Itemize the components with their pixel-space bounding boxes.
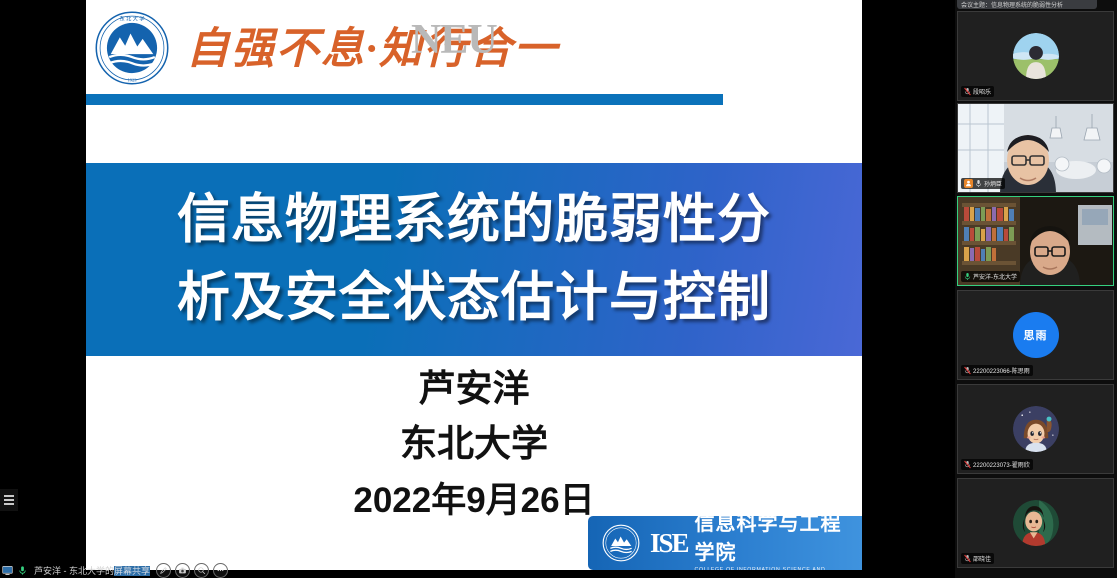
ellipsis-icon [216, 566, 225, 575]
participant-tile[interactable]: 芦安洋-东北大学 [957, 196, 1114, 286]
participant-name: 段昭乐 [973, 87, 991, 96]
participant-name-strip: 段昭乐 [961, 86, 994, 97]
slide-header: 东 北 大 学 1923 自强不息·知行合一 NEU [86, 0, 862, 92]
header-divider [86, 94, 723, 105]
slide-title-line-2: 析及安全状态估计与控制 [86, 259, 862, 337]
toggle-line [4, 495, 14, 497]
toggle-line [4, 499, 14, 501]
mic-muted-icon [964, 554, 971, 563]
college-footer-banner: ISE 信息科学与工程学院 COLLEGE OF INFORMATION SCI… [588, 516, 862, 570]
magnifier-icon [197, 566, 206, 575]
avatar [1013, 33, 1059, 79]
microphone-icon[interactable] [17, 565, 28, 576]
person-icon [965, 180, 972, 187]
participant-name-strip: 孙炳臣 [961, 178, 1005, 189]
meeting-topic-header: 会议主题：信息物理系统的脆弱性分析 [957, 0, 1097, 9]
participant-tile[interactable]: 段昭乐 [957, 11, 1114, 101]
participant-name: 邵晓佳 [973, 554, 991, 563]
mic-icon [975, 179, 982, 188]
participant-name: 22200223066-陈思雨 [973, 366, 1030, 375]
participant-name-strip: 22200223066-陈思雨 [961, 365, 1033, 376]
mic-muted-icon [964, 87, 971, 96]
college-seal-icon [602, 524, 640, 562]
host-badge-icon [964, 179, 973, 188]
participant-name-strip: 邵晓佳 [961, 553, 994, 564]
participant-name-strip: 芦安洋-东北大学 [961, 271, 1020, 282]
participant-name: 22200223073-翟雨欣 [973, 460, 1030, 469]
zoom-button[interactable] [194, 563, 209, 578]
screenshot-button[interactable] [175, 563, 190, 578]
mic-muted-icon [964, 366, 971, 375]
annotate-button[interactable] [156, 563, 171, 578]
slide-author-block: 芦安洋 东北大学 2022年9月26日 [86, 363, 862, 529]
toggle-line [4, 503, 14, 505]
pen-icon [159, 566, 168, 575]
participant-name-strip: 22200223073-翟雨欣 [961, 459, 1033, 470]
slide-title-line-1: 信息物理系统的脆弱性分 [86, 181, 862, 259]
northeastern-university-seal-icon: 东 北 大 学 1923 [94, 10, 170, 86]
meeting-screen-share-window: 东 北 大 学 1923 自强不息·知行合一 NEU 信息物理系统的脆弱性分 析… [0, 0, 1117, 578]
screen-share-toolbar[interactable]: 芦安洋 - 东北大学的屏幕共享 [0, 563, 228, 578]
college-name-en: COLLEGE OF INFORMATION SCIENCE AND ENGIN… [695, 567, 862, 570]
author-name: 芦安洋 [86, 363, 862, 415]
monitor-icon [2, 565, 13, 576]
participant-tile[interactable]: 思雨 22200223066-陈思雨 [957, 290, 1114, 380]
svg-text:1923: 1923 [127, 77, 137, 82]
college-name-cn: 信息科学与工程学院 [695, 507, 862, 565]
share-status-prefix: 芦安洋 - 东北大学的 [34, 566, 114, 576]
presentation-slide: 东 北 大 学 1923 自强不息·知行合一 NEU 信息物理系统的脆弱性分 析… [86, 0, 862, 570]
participant-name: 芦安洋-东北大学 [973, 272, 1017, 281]
slide-title-band: 信息物理系统的脆弱性分 析及安全状态估计与控制 [86, 163, 862, 356]
participant-tile[interactable]: 孙炳臣 [957, 103, 1114, 193]
shared-screen-region[interactable]: 东 北 大 学 1923 自强不息·知行合一 NEU 信息物理系统的脆弱性分 析… [0, 0, 955, 578]
more-button[interactable] [213, 563, 228, 578]
participant-name: 孙炳臣 [984, 179, 1002, 188]
participant-tile[interactable]: 22200223073-翟雨欣 [957, 384, 1114, 474]
neu-wordmark: NEU [411, 16, 497, 64]
participant-video-panel[interactable]: 会议主题：信息物理系统的脆弱性分析 [955, 0, 1117, 578]
author-organization: 东北大学 [86, 415, 862, 473]
panel-toggle-button[interactable] [0, 489, 18, 511]
share-status-highlight: 屏幕共享 [114, 566, 150, 576]
mic-muted-icon [964, 460, 971, 469]
avatar [1013, 500, 1059, 546]
university-slogan: 自强不息·知行合一 [186, 14, 559, 74]
avatar-initials: 思雨 [1013, 312, 1059, 358]
participant-tile[interactable]: 邵晓佳 [957, 478, 1114, 568]
avatar [1013, 406, 1059, 452]
camera-icon [178, 566, 187, 575]
ise-monogram: ISE [650, 528, 688, 559]
college-name-block: 信息科学与工程学院 COLLEGE OF INFORMATION SCIENCE… [695, 507, 862, 570]
mic-active-icon [964, 272, 971, 281]
slide-title: 信息物理系统的脆弱性分 析及安全状态估计与控制 [86, 181, 862, 337]
share-status-label: 芦安洋 - 东北大学的屏幕共享 [32, 564, 152, 577]
